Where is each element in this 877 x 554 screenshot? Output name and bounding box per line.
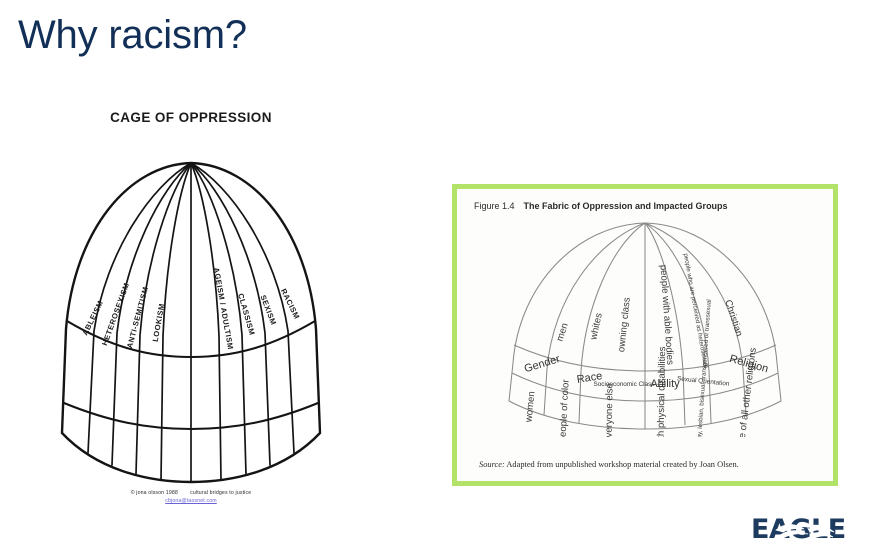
fabric-upper-group-label: Christian [722,299,744,338]
fabric-figure-caption: Figure 1.4The Fabric of Oppression and I… [474,201,728,211]
cage-of-oppression-figure: CAGE OF OPPRESSION [36,110,346,530]
fabric-band-category-label: Socioeconomic Class [593,381,654,388]
cage-rib-label: ABLEISM [80,299,105,337]
fabric-figure-source: Source: Adapted from unpublished worksho… [479,460,739,469]
fabric-lower-group-label: everyone else [603,383,615,437]
cage-rib-label: HETEROSEXISM [100,281,131,346]
fabric-of-oppression-figure: Figure 1.4The Fabric of Oppression and I… [452,184,838,486]
eagle-logo: EAGLE [751,512,861,550]
cage-diagram-graphic: ABLEISM HETEROSEXISM ANTI-SEMITISM LOOKI… [36,133,346,488]
credit-organization: cultural bridges to justice [190,490,251,496]
cage-rib-label: ANTI-SEMITISM [125,286,150,350]
fabric-upper-group-label: whites [588,312,605,342]
fabric-lower-group-label: people of color [557,378,571,437]
figure-title: The Fabric of Oppression and Impacted Gr… [524,201,728,211]
credit-copyright: © jona olsson 1988 [131,490,178,496]
fabric-upper-group-label: owning class [616,297,633,353]
fabric-lower-group-label: women [523,391,537,424]
source-label: Source: [479,460,505,469]
fabric-lower-group-label: people with physical disabilities [655,346,668,437]
source-text: Adapted from unpublished workshop materi… [506,460,738,469]
page-title: Why racism? [18,12,247,58]
figure-number: Figure 1.4 [474,201,515,211]
fabric-diagram-graphic: men whites owning class people with able… [457,215,833,437]
cage-rib-label: AGEISM / ADULTISM [212,267,235,350]
eagle-wordmark: EAGLE [751,516,846,543]
credit-email-link[interactable]: cbjona@taosnet.com [165,498,217,504]
fabric-upper-group-label: men [555,322,571,343]
cage-figure-heading: CAGE OF OPPRESSION [36,110,346,125]
cage-figure-credit: © jona olsson 1988 cultural bridges to j… [36,490,346,506]
